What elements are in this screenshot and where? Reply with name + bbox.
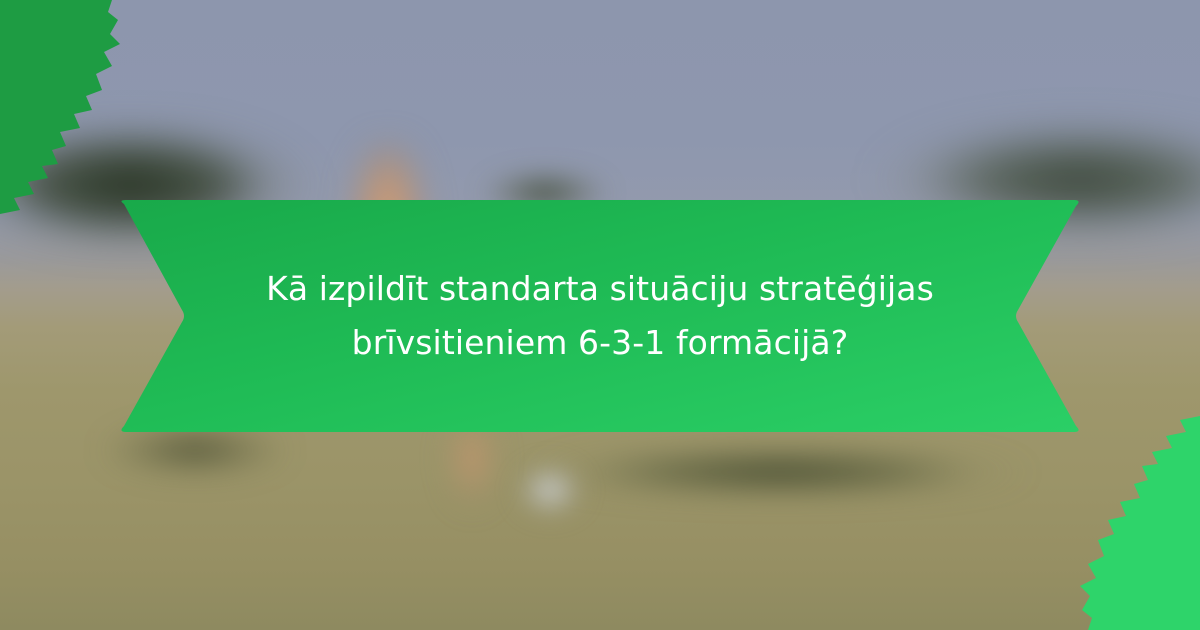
headline-banner: Kā izpildīt standarta situāciju stratēģi… <box>110 198 1090 434</box>
headline-line-1: Kā izpildīt standarta situāciju stratēģi… <box>266 264 934 314</box>
background-shadow-streak <box>520 440 1040 504</box>
background-person-leg <box>432 420 512 515</box>
headline-line-2: brīvsitieniem 6-3-1 formācijā? <box>352 318 849 368</box>
headline-text-block: Kā izpildīt standarta situāciju stratēģi… <box>110 198 1090 434</box>
background-shoe <box>505 455 595 525</box>
social-card: Kā izpildīt standarta situāciju stratēģi… <box>0 0 1200 630</box>
